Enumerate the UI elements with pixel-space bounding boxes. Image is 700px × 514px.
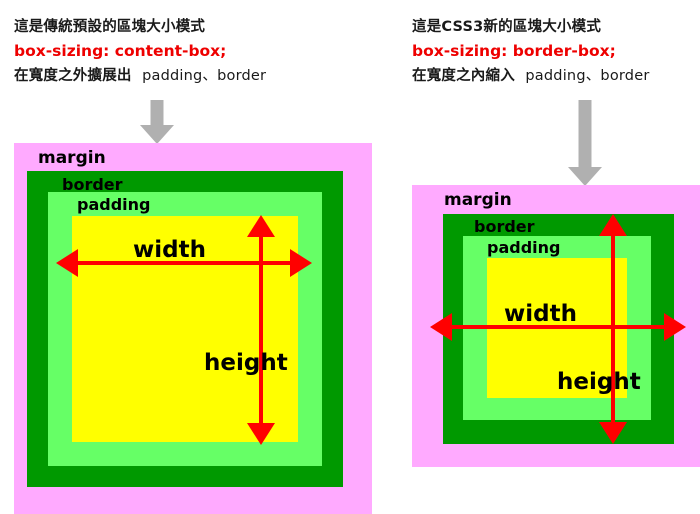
- caption-css-declaration: box-sizing: border-box;: [412, 39, 650, 64]
- diagram-content-box: margin border padding width height: [14, 143, 372, 514]
- label-width: width: [133, 237, 206, 263]
- arrow-head-right: [664, 313, 686, 341]
- caption-line-3: 在寬度之內縮入 padding、border: [412, 65, 650, 88]
- arrow-head-top: [247, 215, 275, 237]
- arrow-head-left: [430, 313, 452, 341]
- arrow-stem: [579, 100, 592, 168]
- caption-line-3-prefix: 在寬度之內縮入: [412, 68, 515, 84]
- arrow-head-top: [599, 214, 627, 236]
- arrow-head: [140, 125, 174, 144]
- caption-content-box: 這是傳統預設的區塊大小模式 box-sizing: content-box; 在…: [14, 16, 266, 88]
- margin-area: margin border padding width height: [14, 143, 372, 514]
- arrow-head-right: [290, 249, 312, 277]
- arrow-line: [611, 228, 615, 430]
- box-sizing-illustration: { "page": { "title": "CSS box-sizing com…: [0, 0, 700, 514]
- caption-border-box: 這是CSS3新的區塊大小模式 box-sizing: border-box; 在…: [412, 16, 650, 88]
- down-arrow-icon: [141, 100, 173, 144]
- margin-area: margin border padding width height: [412, 185, 700, 467]
- padding-area: padding: [48, 192, 322, 466]
- height-arrow: [247, 215, 275, 445]
- down-arrow-icon: [569, 100, 601, 186]
- caption-line-3-mono: padding、border: [142, 68, 266, 84]
- arrow-line: [259, 229, 263, 431]
- arrow-head-bottom: [247, 423, 275, 445]
- caption-line-3: 在寬度之外擴展出 padding、border: [14, 65, 266, 88]
- label-margin: margin: [444, 190, 512, 210]
- label-width: width: [504, 301, 577, 327]
- caption-line-3-prefix: 在寬度之外擴展出: [14, 68, 132, 84]
- label-height: height: [557, 369, 641, 395]
- height-arrow: [599, 214, 627, 444]
- arrow-stem: [151, 100, 164, 126]
- caption-css-declaration: box-sizing: content-box;: [14, 39, 266, 64]
- label-border: border: [474, 217, 535, 236]
- arrow-head-left: [56, 249, 78, 277]
- label-padding: padding: [487, 238, 560, 257]
- diagram-border-box: margin border padding width height: [412, 185, 700, 467]
- caption-line-1: 這是CSS3新的區塊大小模式: [412, 16, 650, 39]
- label-margin: margin: [38, 148, 106, 168]
- caption-line-1: 這是傳統預設的區塊大小模式: [14, 16, 266, 39]
- label-height: height: [204, 350, 288, 376]
- arrow-head-bottom: [599, 422, 627, 444]
- label-padding: padding: [77, 195, 150, 214]
- caption-line-3-mono: padding、border: [525, 68, 649, 84]
- arrow-head: [568, 167, 602, 186]
- border-area: border padding: [27, 171, 343, 487]
